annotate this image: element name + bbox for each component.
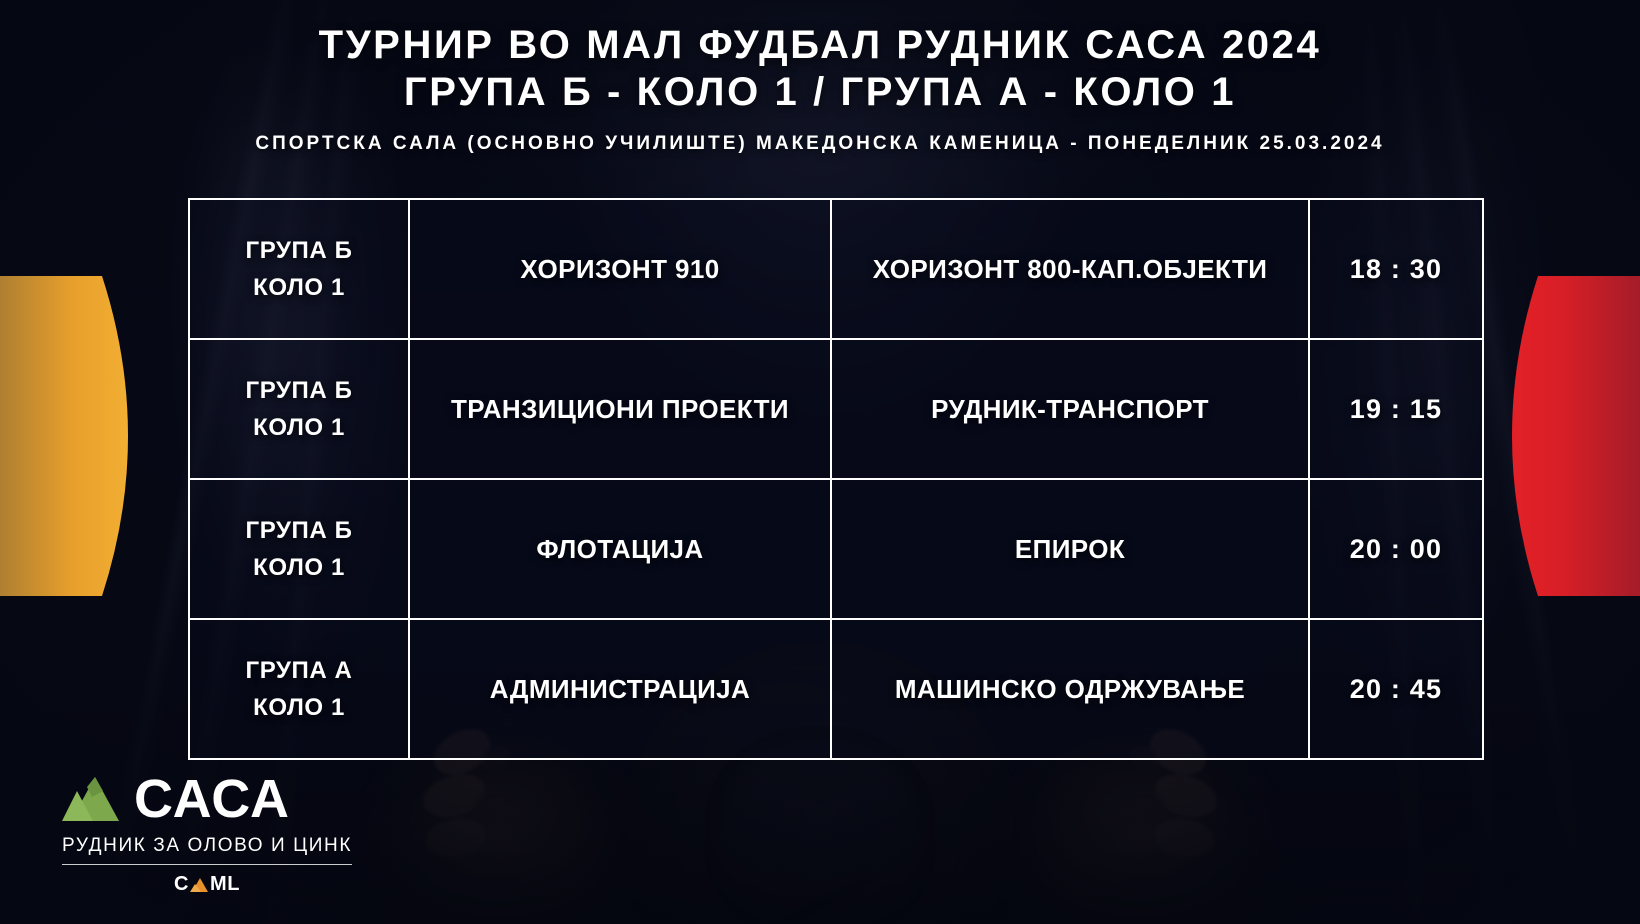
cell-team-away: ЕПИРОК	[831, 479, 1309, 619]
caml-suffix-letters: ML	[210, 874, 240, 894]
decorative-arrow-left	[0, 276, 152, 596]
tournament-schedule-poster: ТУРНИР ВО МАЛ ФУДБАЛ РУДНИК САСА 2024 ГР…	[0, 0, 1640, 924]
cell-group-round: ГРУПА А КОЛО 1	[189, 619, 409, 759]
venue-date-subtitle: СПОРТСКА САЛА (ОСНОВНО УЧИЛИШТЕ) МАКЕДОН…	[0, 133, 1640, 155]
cell-kickoff-time: 20 : 45	[1309, 619, 1483, 759]
logo-divider	[62, 864, 352, 865]
round-label: КОЛО 1	[200, 689, 398, 726]
mountain-icon	[62, 775, 120, 823]
page-title-line-1: ТУРНИР ВО МАЛ ФУДБАЛ РУДНИК САСА 2024	[0, 22, 1640, 69]
round-label: КОЛО 1	[200, 549, 398, 586]
match-schedule-table: ГРУПА Б КОЛО 1 ХОРИЗОНТ 910 ХОРИЗОНТ 800…	[188, 198, 1484, 760]
decorative-arrow-right	[1488, 276, 1640, 596]
table-row: ГРУПА А КОЛО 1 АДМИНИСТРАЦИЈА МАШИНСКО О…	[189, 619, 1483, 759]
footer-branding: САСА РУДНИК ЗА ОЛОВО И ЦИНК C ML	[62, 772, 352, 894]
round-label: КОЛО 1	[200, 269, 398, 306]
cell-team-away: РУДНИК-ТРАНСПОРТ	[831, 339, 1309, 479]
cell-team-home: ФЛОТАЦИЈА	[409, 479, 831, 619]
cell-group-round: ГРУПА Б КОЛО 1	[189, 199, 409, 339]
table-row: ГРУПА Б КОЛО 1 ХОРИЗОНТ 910 ХОРИЗОНТ 800…	[189, 199, 1483, 339]
sasa-wordmark: САСА	[134, 772, 290, 826]
cell-team-home: ТРАНЗИЦИОНИ ПРОЕКТИ	[409, 339, 831, 479]
caml-mountain-icon	[190, 876, 209, 894]
group-label: ГРУПА Б	[200, 372, 398, 409]
table-row: ГРУПА Б КОЛО 1 ТРАНЗИЦИОНИ ПРОЕКТИ РУДНИ…	[189, 339, 1483, 479]
poster-header: ТУРНИР ВО МАЛ ФУДБАЛ РУДНИК САСА 2024 ГР…	[0, 0, 1640, 155]
sasa-tagline: РУДНИК ЗА ОЛОВО И ЦИНК	[62, 835, 352, 857]
round-label: КОЛО 1	[200, 409, 398, 446]
cell-kickoff-time: 20 : 00	[1309, 479, 1483, 619]
cell-team-away: ХОРИЗОНТ 800-КАП.ОБЈЕКТИ	[831, 199, 1309, 339]
cell-kickoff-time: 18 : 30	[1309, 199, 1483, 339]
sasa-logo: САСА	[62, 772, 352, 826]
cell-team-home: ХОРИЗОНТ 910	[409, 199, 831, 339]
cell-group-round: ГРУПА Б КОЛО 1	[189, 339, 409, 479]
caml-prefix-letter: C	[174, 874, 189, 894]
cell-group-round: ГРУПА Б КОЛО 1	[189, 479, 409, 619]
table-row: ГРУПА Б КОЛО 1 ФЛОТАЦИЈА ЕПИРОК 20 : 00	[189, 479, 1483, 619]
cell-kickoff-time: 19 : 15	[1309, 339, 1483, 479]
group-label: ГРУПА А	[200, 652, 398, 689]
cell-team-home: АДМИНИСТРАЦИЈА	[409, 619, 831, 759]
caml-logo: C ML	[62, 874, 352, 894]
group-label: ГРУПА Б	[200, 512, 398, 549]
page-title-line-2: ГРУПА Б - КОЛО 1 / ГРУПА А - КОЛО 1	[0, 69, 1640, 116]
group-label: ГРУПА Б	[200, 232, 398, 269]
cell-team-away: МАШИНСКО ОДРЖУВАЊЕ	[831, 619, 1309, 759]
